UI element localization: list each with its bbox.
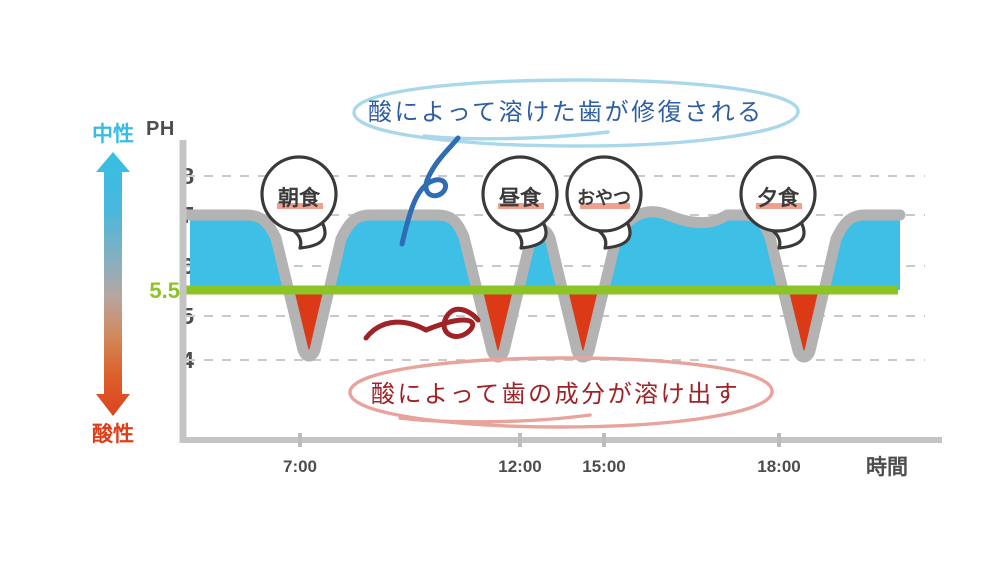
ph-curve-chart bbox=[0, 0, 1000, 500]
bubble-label-snack: おやつ bbox=[559, 184, 649, 210]
annotation-repair-text: 酸によって溶けた歯が修復される bbox=[368, 92, 764, 127]
x-axis-title: 時間 bbox=[866, 451, 908, 481]
annotation-dissolve-pointer bbox=[426, 309, 478, 336]
bubble-label-dinner: 夕食 bbox=[733, 182, 823, 212]
bubble-label-breakfast: 朝食 bbox=[254, 182, 344, 212]
x-tick-1800: 18:00 bbox=[734, 457, 824, 477]
annotation-dissolve-text: 酸によって歯の成分が溶け出す bbox=[371, 374, 740, 409]
bubble-label-lunch: 昼食 bbox=[475, 182, 565, 212]
x-tick-1500: 15:00 bbox=[559, 457, 649, 477]
infographic-canvas: 中性 酸性 PH 8 7 6 5.5 5 4 bbox=[0, 0, 1000, 570]
x-tick-0700: 7:00 bbox=[255, 457, 345, 477]
x-tick-1200: 12:00 bbox=[475, 457, 565, 477]
annotation-dissolve-pointer-tail bbox=[366, 322, 426, 338]
